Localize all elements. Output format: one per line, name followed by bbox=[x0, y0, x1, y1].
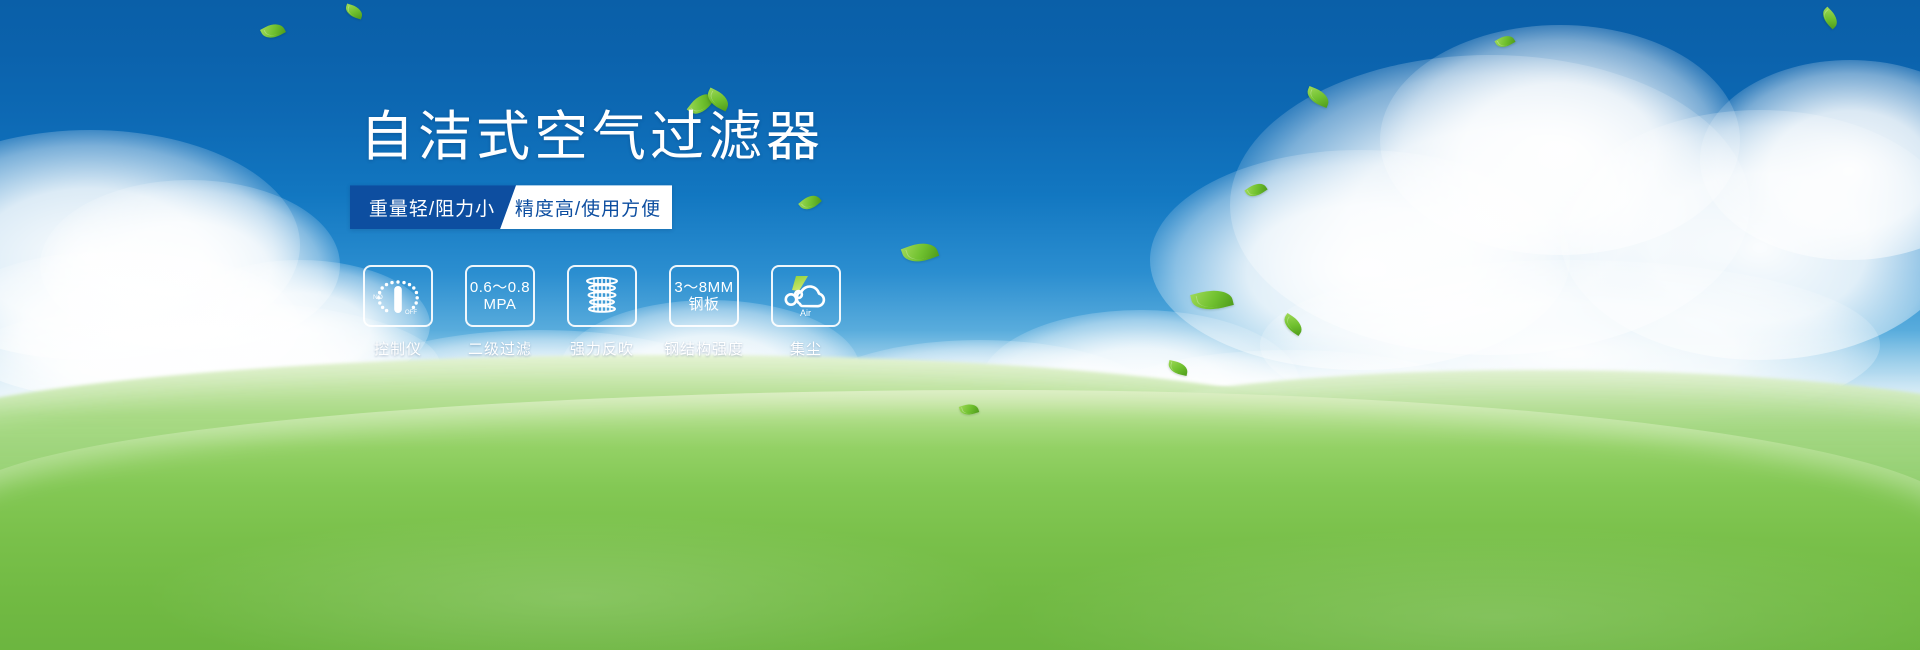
banner-content: 自洁式空气过滤器 重量轻/阻力小 精度高/使用方便 bbox=[350, 108, 970, 359]
feature-icon-box: Air bbox=[771, 265, 841, 327]
cloud-decoration bbox=[0, 250, 300, 400]
steel-material-text: 钢板 bbox=[688, 296, 719, 313]
pressure-unit-text: MPA bbox=[484, 296, 517, 313]
cloud-decoration bbox=[1230, 55, 1750, 355]
leaf-decoration bbox=[1819, 7, 1842, 30]
cloud-decoration bbox=[1700, 60, 1920, 260]
steel-thickness-text: 3～8MM bbox=[674, 279, 733, 296]
feature-label: 二级过滤 bbox=[468, 338, 532, 359]
gauge-off-label: OFF bbox=[405, 310, 417, 316]
tagline-primary: 重量轻/阻力小 bbox=[350, 185, 516, 229]
product-hero-banner: 自洁式空气过滤器 重量轻/阻力小 精度高/使用方便 bbox=[0, 0, 1920, 650]
gauge-no-label: NO bbox=[373, 294, 383, 301]
cloud-decoration bbox=[150, 360, 530, 480]
airflow-coil-icon bbox=[579, 274, 625, 318]
leaf-decoration bbox=[1190, 285, 1234, 314]
leaf-decoration bbox=[344, 3, 365, 19]
feature-label: 强力反吹 bbox=[570, 338, 634, 359]
leaf-decoration bbox=[1244, 179, 1267, 200]
leaf-decoration bbox=[959, 401, 980, 417]
leaf-decoration bbox=[1280, 313, 1306, 336]
cloud-decoration bbox=[640, 360, 1120, 480]
feature-icon-box bbox=[567, 265, 637, 327]
leaf-decoration bbox=[1167, 360, 1189, 376]
feature-item[interactable]: 0.6～0.8 MPA 二级过滤 bbox=[460, 265, 540, 359]
grass-hill-left bbox=[0, 355, 1380, 505]
cloud-decoration bbox=[800, 340, 1160, 470]
cloud-decoration bbox=[0, 130, 300, 360]
grass-light-sheen bbox=[0, 410, 1920, 650]
feature-item[interactable]: Air 集尘 bbox=[766, 265, 846, 359]
cloud-decoration bbox=[40, 180, 340, 350]
tagline-group: 重量轻/阻力小 精度高/使用方便 bbox=[350, 185, 672, 229]
leaf-decoration bbox=[1494, 32, 1515, 51]
leaf-decoration bbox=[1304, 86, 1331, 108]
cloud-decoration bbox=[1560, 110, 1920, 360]
feature-label: 集尘 bbox=[790, 338, 822, 359]
cloud-decoration bbox=[1260, 260, 1880, 430]
cloud-decoration bbox=[980, 310, 1300, 460]
air-caption: Air bbox=[800, 308, 811, 318]
feature-item[interactable]: NO OFF 控制仪 bbox=[358, 265, 438, 359]
feature-icon-box: NO OFF bbox=[363, 265, 433, 327]
feature-item[interactable]: 3～8MM 钢板 钢结构强度 bbox=[664, 265, 744, 359]
gauge-meter-icon: NO OFF bbox=[371, 273, 425, 319]
page-title: 自洁式空气过滤器 bbox=[360, 108, 970, 167]
grass-hill-right bbox=[1040, 370, 1920, 500]
cloud-decoration bbox=[1150, 150, 1570, 370]
tagline-secondary: 精度高/使用方便 bbox=[500, 185, 672, 229]
dust-cloud-air-icon: Air bbox=[778, 274, 834, 318]
cloud-decoration bbox=[1080, 350, 1500, 480]
feature-item[interactable]: 强力反吹 bbox=[562, 265, 642, 359]
feature-label: 控制仪 bbox=[374, 338, 422, 359]
leaf-decoration bbox=[260, 20, 286, 43]
feature-icon-box: 0.6～0.8 MPA bbox=[465, 265, 535, 327]
cloud-decoration bbox=[1380, 25, 1740, 255]
feature-list: NO OFF 控制仪 0.6～0.8 MPA 二级过滤 bbox=[358, 265, 970, 359]
grass-foreground bbox=[0, 390, 1920, 650]
feature-icon-box: 3～8MM 钢板 bbox=[669, 265, 739, 327]
pressure-range-text: 0.6～0.8 bbox=[470, 279, 530, 296]
feature-label: 钢结构强度 bbox=[664, 338, 744, 359]
